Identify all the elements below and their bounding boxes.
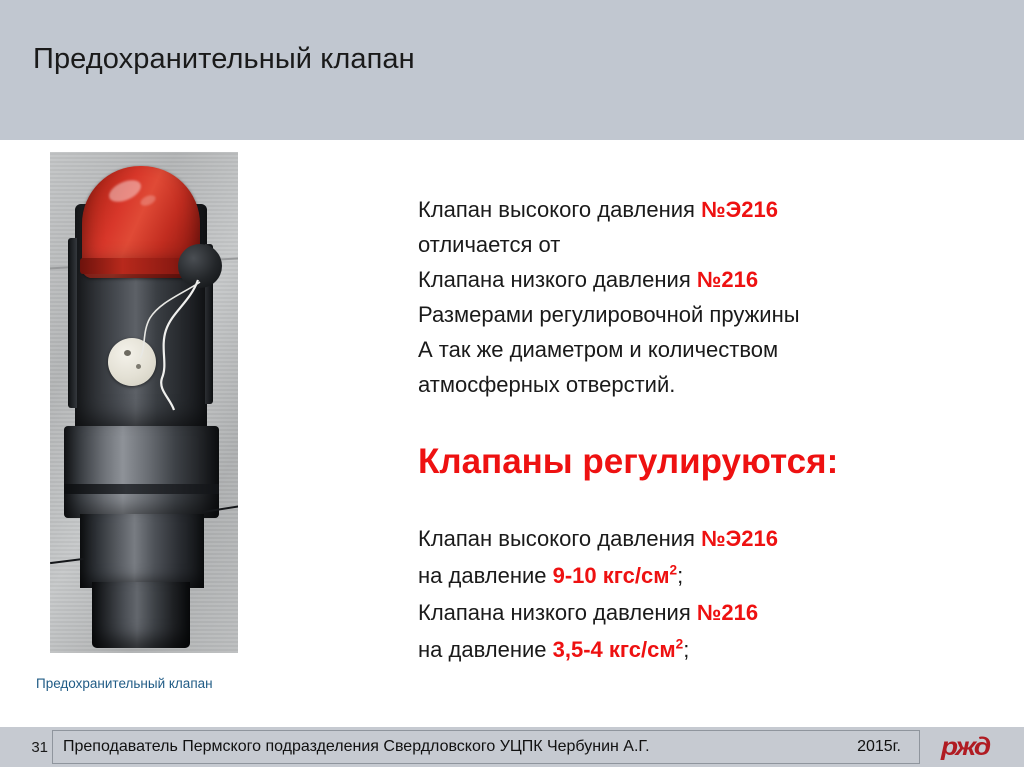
line-tail: ; — [683, 637, 689, 662]
cap-highlight — [106, 176, 144, 206]
line-bold-part: Клапана низкого давления — [418, 600, 697, 625]
line-bold-part: Клапан высокого давления — [418, 197, 701, 222]
text-line: Размерами регулировочной пружины — [418, 297, 998, 332]
page-number: 31 — [20, 739, 48, 756]
line-superscript: 2 — [670, 563, 678, 578]
line-plain-part: на давление — [418, 563, 553, 588]
text-line: отличается от — [418, 227, 998, 262]
text-line: Клапана низкого давления №216 — [418, 594, 998, 631]
text-line: А так же диаметром и количеством — [418, 332, 998, 367]
page-title: Предохранительный клапан — [33, 43, 415, 76]
valve-mid-cone — [80, 514, 204, 588]
valve-threaded-base — [92, 582, 190, 648]
section-heading: Клапаны регулируются: — [418, 442, 838, 482]
photo-caption: Предохранительный клапан — [36, 676, 213, 691]
footer-year: 2015г. — [857, 738, 901, 756]
line-plain-part: Размерами регулировочной пружины — [418, 302, 800, 327]
rzd-logo-icon: ржд — [941, 733, 989, 762]
text-line: Клапана низкого давления №216 — [418, 262, 998, 297]
line-bold-part: Клапана низкого давления — [418, 267, 697, 292]
line-red-value: 3,5-4 кгс/см — [553, 637, 676, 662]
footer-author-text: Преподаватель Пермского подразделения Св… — [63, 738, 650, 756]
line-plain-part: отличается от — [418, 232, 560, 257]
line-red-value: 9-10 кгс/см — [553, 563, 670, 588]
cap-highlight-small — [139, 193, 157, 208]
safety-valve-photo — [50, 152, 238, 653]
text-line: на давление 3,5-4 кгс/см2; — [418, 631, 998, 668]
line-bold-part: Клапан высокого давления — [418, 526, 701, 551]
line-red-part: №Э216 — [701, 526, 778, 551]
side-knob-icon — [178, 244, 222, 288]
line-red-part: №216 — [697, 267, 758, 292]
text-line: Клапан высокого давления №Э216 — [418, 192, 998, 227]
valve-hex-flange — [64, 426, 219, 518]
line-red-part: №216 — [697, 600, 758, 625]
footer-text-box: Преподаватель Пермского подразделения Св… — [52, 730, 920, 764]
line-plain-part: А так же диаметром и количеством — [418, 337, 778, 362]
line-plain-part: атмосферных отверстий. — [418, 372, 675, 397]
text-line: на давление 9-10 кгс/см2; — [418, 557, 998, 594]
line-plain-part: на давление — [418, 637, 553, 662]
text-block-settings: Клапан высокого давления №Э216 на давлен… — [418, 520, 998, 668]
text-line: атмосферных отверстий. — [418, 367, 998, 402]
line-tail: ; — [677, 563, 683, 588]
line-red-part: №Э216 — [701, 197, 778, 222]
text-block-comparison: Клапан высокого давления №Э216 отличаетс… — [418, 192, 998, 402]
white-seal-disc — [108, 338, 156, 386]
text-line: Клапан высокого давления №Э216 — [418, 520, 998, 557]
